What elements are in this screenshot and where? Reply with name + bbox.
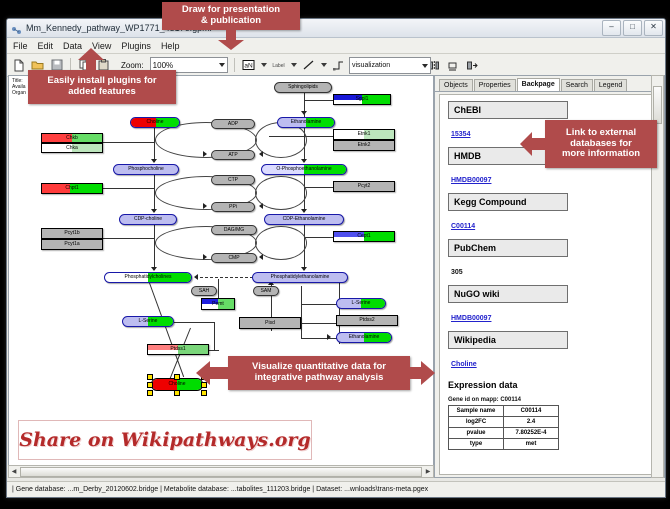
- cofactor-node[interactable]: ATP: [211, 150, 255, 160]
- callout-line: Link to external: [566, 128, 636, 139]
- arrow-icon: [203, 254, 207, 260]
- arrow-icon: [259, 203, 263, 209]
- node-label: ATP: [228, 153, 237, 158]
- node-label: Sphingolipids: [288, 85, 318, 90]
- callout-line: added features: [68, 87, 136, 98]
- scroll-right-arrow-icon[interactable]: ▶: [423, 467, 433, 476]
- node-label: DAG/MG: [224, 228, 244, 233]
- node-label: Phosphatidylcholines: [125, 275, 172, 280]
- chevron-down-icon[interactable]: [261, 63, 267, 67]
- edge: [301, 286, 302, 338]
- node-label: Pcyt2: [358, 184, 371, 189]
- table-cell-value: 7.80252E-4: [504, 428, 559, 439]
- gene-node[interactable]: Ptdss2: [336, 315, 398, 326]
- node-label: CDP-choline: [134, 217, 162, 222]
- metabolite-node[interactable]: CDP-choline: [119, 214, 177, 225]
- toolbar-separator: [234, 58, 235, 72]
- statusbar: | Gene database: ...m_Derby_20120602.bri…: [7, 481, 665, 497]
- edge: [304, 187, 334, 188]
- table-row: Sample name C00114: [449, 406, 559, 417]
- gene-node[interactable]: Etnk1: [333, 129, 395, 140]
- menu-edit[interactable]: Edit: [37, 41, 55, 51]
- pathway-info-organism: Organ: [12, 90, 26, 96]
- scrollbar-thumb[interactable]: [20, 467, 422, 477]
- table-cell-name: Sample name: [449, 406, 504, 417]
- node-label: O-Phosphoethanolamine: [276, 167, 331, 172]
- status-text: | Gene database: ...m_Derby_20120602.bri…: [7, 486, 428, 493]
- minimize-button[interactable]: –: [602, 20, 621, 36]
- arrow-icon: [301, 111, 307, 115]
- callout-arrow-left-icon: [520, 131, 548, 162]
- node-label: ADP: [228, 122, 238, 127]
- gene-node[interactable]: Pemt: [201, 298, 235, 310]
- edge: [149, 283, 184, 377]
- pathvisio-app-icon: [11, 23, 22, 34]
- maximize-button[interactable]: □: [623, 20, 642, 36]
- gene-node[interactable]: Chkb: [41, 133, 103, 143]
- arrow-icon: [327, 334, 331, 340]
- node-label: Choline: [147, 120, 164, 125]
- edge: [301, 304, 337, 305]
- table-row: log2FC 2.4: [449, 417, 559, 428]
- window-titlebar: Mm_Kennedy_pathway_WP1771_45176.gpml – □…: [7, 19, 665, 38]
- edge: [218, 279, 219, 298]
- resize-handle[interactable]: [174, 390, 180, 396]
- section-heading-pubchem: PubChem: [448, 239, 568, 257]
- metabolite-node[interactable]: L-Serine: [336, 298, 386, 309]
- section-heading-wikipedia: Wikipedia: [448, 331, 568, 349]
- node-label: SAM: [261, 289, 272, 294]
- metabolite-node[interactable]: L-Serine: [122, 316, 174, 327]
- tab-objects[interactable]: Objects: [439, 79, 473, 91]
- order-icon[interactable]: [465, 58, 480, 73]
- node-label: L-Serine: [139, 319, 158, 324]
- menu-file[interactable]: File: [12, 41, 29, 51]
- zoom-value: 100%: [153, 61, 173, 70]
- arrow-icon: [259, 151, 263, 157]
- svg-text:Label: Label: [272, 63, 284, 69]
- side-panel-tabs: Objects Properties Backpage Search Legen…: [435, 76, 664, 92]
- pathway-canvas[interactable]: Title: Availa Organ: [8, 75, 434, 478]
- tab-properties[interactable]: Properties: [474, 79, 516, 91]
- gene-node[interactable]: Chka: [41, 143, 103, 153]
- menu-plugins[interactable]: Plugins: [120, 41, 152, 51]
- metabolite-node[interactable]: CDP-Ethanolamine: [264, 214, 344, 225]
- datanode-icon[interactable]: aN: [241, 58, 256, 73]
- node-label: Sgpl1: [356, 97, 369, 102]
- line-icon[interactable]: [301, 58, 316, 73]
- callout-visualize: Visualize quantitative data for integrat…: [228, 356, 410, 390]
- gene-node[interactable]: Pisd: [239, 317, 301, 329]
- cofactor-node[interactable]: PPi: [211, 202, 255, 212]
- table-row: type met: [449, 439, 559, 450]
- node-label: Chka: [66, 146, 78, 151]
- pubchem-value: 305: [451, 269, 463, 276]
- arrow-icon: [301, 209, 307, 213]
- cofactor-node[interactable]: DAG/MG: [211, 225, 257, 235]
- resize-handle[interactable]: [147, 390, 153, 396]
- node-label: PPi: [229, 205, 237, 210]
- callout-line: more information: [562, 149, 640, 160]
- resize-handle[interactable]: [147, 374, 153, 380]
- gene-node[interactable]: Sgpl1: [333, 94, 391, 105]
- metabolite-node[interactable]: Sphingolipids: [274, 82, 332, 93]
- edge: [301, 338, 337, 339]
- hmdb-link[interactable]: HMDB00097: [451, 177, 491, 184]
- gene-id-line: Gene id on mapp: C00114: [448, 397, 649, 403]
- table-cell-value: C00114: [504, 406, 559, 417]
- edge: [154, 128, 155, 162]
- node-label: Pisd: [265, 321, 275, 326]
- node-label: Choline: [169, 382, 186, 387]
- edge: [103, 142, 155, 143]
- gene-node[interactable]: Pcyt1b: [41, 228, 103, 239]
- metabolite-node[interactable]: SAH: [191, 286, 217, 296]
- metabolite-node[interactable]: Ethanolamine: [277, 117, 335, 128]
- menu-help[interactable]: Help: [160, 41, 181, 51]
- gene-node[interactable]: Ptdss1: [147, 344, 209, 355]
- chevron-down-icon: [219, 63, 225, 67]
- node-label: Pemt: [212, 302, 224, 307]
- edge: [103, 238, 155, 239]
- node-label: Chpt1: [65, 186, 78, 191]
- window-controls: – □ ✕: [602, 20, 663, 36]
- node-label: Ptdss2: [359, 318, 374, 323]
- table-cell-value: 2.4: [504, 417, 559, 428]
- node-label: Pcyt1a: [64, 242, 79, 247]
- node-label: Etnk2: [358, 143, 371, 148]
- metabolite-node[interactable]: SAM: [253, 286, 279, 296]
- callout-arrow-up-icon: [78, 48, 104, 77]
- callout-arrow-right-icon: [405, 360, 435, 391]
- metabolite-node[interactable]: Phosphocholine: [113, 164, 179, 175]
- visualization-value: visualization: [352, 62, 390, 69]
- table-cell-value: met: [504, 439, 559, 450]
- edge: [154, 225, 155, 270]
- arrow-icon: [151, 209, 157, 213]
- edge-dashed: [195, 277, 253, 278]
- node-label: CTP: [228, 178, 238, 183]
- node-label: CMP: [228, 256, 239, 261]
- section-heading-chebi: ChEBI: [448, 101, 568, 119]
- new-document-icon[interactable]: [11, 58, 26, 73]
- gene-node[interactable]: Pcyt1a: [41, 239, 103, 250]
- metabolite-node[interactable]: O-Phosphoethanolamine: [261, 164, 347, 175]
- edge: [304, 237, 334, 238]
- edge: [304, 100, 334, 101]
- scroll-left-arrow-icon[interactable]: ◀: [9, 467, 19, 476]
- chebi-link[interactable]: 15354: [451, 131, 470, 138]
- edge: [174, 322, 214, 323]
- callout-arrow-down-icon: [218, 30, 244, 55]
- node-label: CDP-Ethanolamine: [283, 217, 326, 222]
- arrow-icon: [259, 254, 263, 260]
- menubar: File Edit Data View Plugins Help: [7, 38, 665, 54]
- callout-draw: Draw for presentation & publication: [162, 2, 300, 30]
- table-cell-name: type: [449, 439, 504, 450]
- nugo-link[interactable]: HMDB00097: [451, 315, 491, 322]
- arrow-icon: [203, 151, 207, 157]
- cofactor-node[interactable]: CTP: [211, 175, 255, 185]
- node-label: Phosphocholine: [128, 167, 164, 172]
- gene-node[interactable]: Chpt1: [41, 183, 103, 194]
- arrow-icon: [194, 274, 198, 280]
- screenshot-root: Mm_Kennedy_pathway_WP1771_45176.gpml – □…: [0, 0, 670, 509]
- edge: [214, 322, 215, 350]
- table-row: pvalue 7.80252E-4: [449, 428, 559, 439]
- edge: [209, 350, 219, 351]
- node-label: Ptdss1: [170, 347, 185, 352]
- chevron-down-icon: [422, 64, 428, 68]
- callout-links: Link to external databases for more info…: [545, 120, 657, 168]
- gene-node[interactable]: Cept1: [333, 231, 395, 242]
- metabolite-node[interactable]: Phosphatidylethanolamine: [252, 272, 348, 283]
- resize-handle[interactable]: [174, 374, 180, 380]
- wikipedia-link[interactable]: Choline: [451, 361, 477, 368]
- share-banner-text: Share on Wikipathways.org: [19, 429, 310, 451]
- kegg-link[interactable]: C00114: [451, 223, 475, 230]
- node-label: Etnk1: [358, 132, 371, 137]
- section-heading-kegg: Kegg Compound: [448, 193, 568, 211]
- table-cell-name: pvalue: [449, 428, 504, 439]
- arrow-icon: [151, 159, 157, 163]
- tab-legend[interactable]: Legend: [594, 79, 627, 91]
- chevron-down-icon[interactable]: [291, 63, 297, 67]
- callout-arrow-left-icon: [196, 360, 230, 391]
- node-label: Ethanolamine: [291, 120, 322, 125]
- node-label: Cept1: [357, 234, 370, 239]
- arrow-icon: [151, 267, 157, 271]
- gene-node[interactable]: Etnk2: [333, 140, 395, 151]
- section-heading-nugo: NuGO wiki: [448, 285, 568, 303]
- node-label: Ethanolamine: [349, 335, 380, 340]
- table-cell-name: log2FC: [449, 417, 504, 428]
- cofactor-node[interactable]: ADP: [211, 119, 255, 129]
- expression-table: Sample name C00114 log2FC 2.4 pvalue 7.8…: [448, 405, 559, 450]
- connector-icon[interactable]: [331, 58, 346, 73]
- arrow-icon: [203, 203, 207, 209]
- canvas-hscrollbar[interactable]: ◀ ▶: [8, 465, 434, 478]
- callout-line: integrative pathway analysis: [255, 373, 384, 384]
- node-label: SAH: [199, 289, 209, 294]
- gene-node[interactable]: Pcyt2: [333, 181, 395, 192]
- edge: [103, 188, 155, 189]
- arrow-icon: [301, 159, 307, 163]
- tab-backpage[interactable]: Backpage: [517, 78, 560, 91]
- node-label: Phosphatidylethanolamine: [271, 275, 330, 280]
- svg-text:aN: aN: [244, 63, 253, 70]
- group-icon[interactable]: [446, 58, 461, 73]
- arrow-icon: [301, 267, 307, 271]
- resize-handle[interactable]: [147, 382, 153, 388]
- node-label: Pcyt1b: [64, 231, 79, 236]
- metabolite-node[interactable]: Ethanolamine: [336, 332, 392, 343]
- chevron-down-icon[interactable]: [321, 63, 327, 67]
- tab-search[interactable]: Search: [561, 79, 593, 91]
- node-label: L-Serine: [352, 301, 371, 306]
- share-banner: Share on Wikipathways.org: [18, 420, 312, 460]
- metabolite-node[interactable]: Phosphatidylcholines: [104, 272, 192, 283]
- zoom-label: Zoom:: [121, 61, 144, 70]
- visualization-combo[interactable]: visualization: [349, 57, 431, 74]
- pathway-info: Title: Availa Organ: [12, 78, 26, 96]
- callout-line: & publication: [201, 16, 261, 27]
- expression-data-heading: Expression data: [448, 380, 649, 390]
- cofactor-node[interactable]: CMP: [211, 253, 257, 263]
- metabolite-node[interactable]: Choline: [130, 117, 180, 128]
- scrollbar-thumb[interactable]: [653, 86, 662, 124]
- label-icon[interactable]: Label: [271, 58, 286, 73]
- close-button[interactable]: ✕: [644, 20, 663, 36]
- node-label: Chkb: [66, 136, 78, 141]
